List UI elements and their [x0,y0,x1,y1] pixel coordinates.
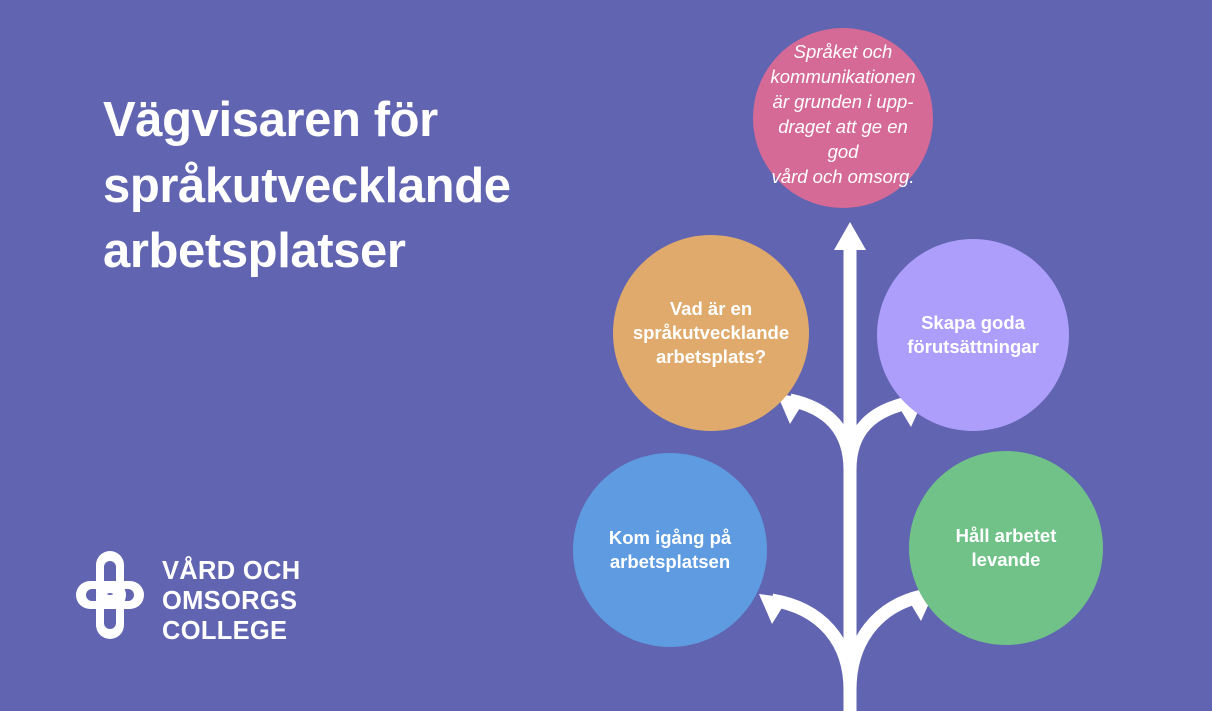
branch-to-green [850,596,922,690]
branch-to-blue [772,600,850,690]
logo-text: VÅRD OCH OMSORGS COLLEGE [162,557,300,646]
interlocking-links-cross-icon [64,547,156,643]
tree-node-hall-arbetet-levande[interactable]: Håll arbetet levande [909,451,1103,645]
tree-node-quote[interactable]: Språket och kommunikationen är grunden i… [753,28,933,208]
tree-node-label: Håll arbetet levande [948,524,1065,572]
branch-to-purple [850,402,912,470]
logo: VÅRD OCH OMSORGS COLLEGE [64,545,304,645]
tree-node-label: Kom igång på arbetsplatsen [601,526,739,574]
branch-to-orange [790,400,850,470]
page-title: Vägvisaren för språkutvecklande arbetspl… [103,88,603,285]
tree-node-vad-ar-en-sprakutvecklande-arbetsplats[interactable]: Vad är en språkutvecklande arbetsplats? [613,235,809,431]
tree-node-label: Vad är en språkutvecklande arbetsplats? [625,297,797,369]
tree-node-label: Skapa goda förutsättningar [899,311,1047,359]
arrowhead-up-pink [834,222,866,250]
arrowhead-blue [759,594,788,624]
tree-node-skapa-goda-forutsattningar[interactable]: Skapa goda förutsättningar [877,239,1069,431]
tree-node-kom-igang-pa-arbetsplatsen[interactable]: Kom igång på arbetsplatsen [573,453,767,647]
tree-node-label: Språket och kommunikationen är grunden i… [753,39,933,190]
poster-canvas: Vägvisaren för språkutvecklande arbetspl… [0,0,1212,711]
